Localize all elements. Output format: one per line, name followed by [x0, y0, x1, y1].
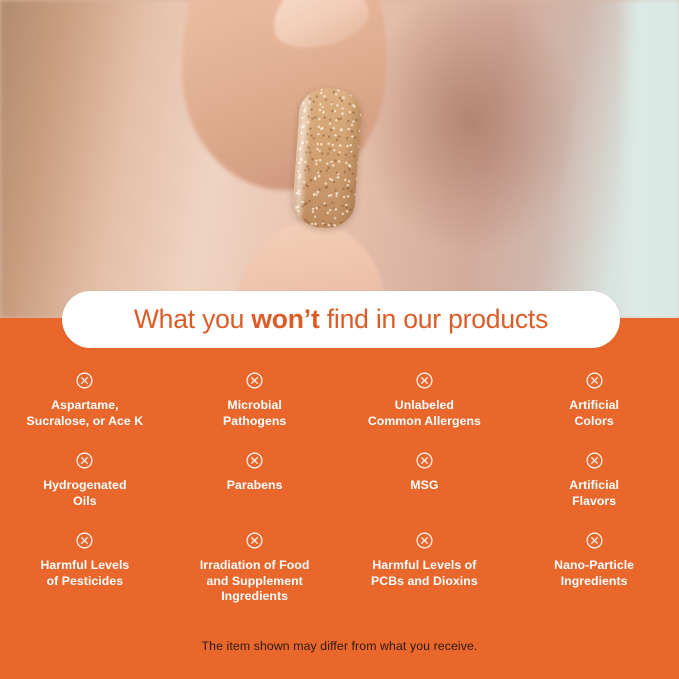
exclusion-label: Artificial Colors: [569, 398, 619, 429]
exclusion-label: Microbial Pathogens: [223, 398, 286, 429]
photo-forearm: [0, 0, 110, 318]
circle-x-icon: [416, 372, 433, 389]
product-photo: [0, 0, 679, 318]
headline-emphasis: won’t: [251, 304, 319, 334]
circle-x-icon: [586, 452, 603, 469]
circle-x-icon: [246, 372, 263, 389]
exclusion-item-unlabeled-allergens: Unlabeled Common Allergens: [340, 366, 510, 446]
exclusion-item-aspartame: Aspartame, Sucralose, or Ace K: [0, 366, 170, 446]
circle-x-icon: [246, 532, 263, 549]
exclusion-item-irradiation: Irradiation of Food and Supplement Ingre…: [170, 526, 340, 612]
exclusion-label: Unlabeled Common Allergens: [368, 398, 481, 429]
headline-text: What you won’t find in our products: [134, 304, 548, 335]
photo-background-mint-strip: [617, 0, 679, 318]
exclusion-label: Harmful Levels of PCBs and Dioxins: [371, 558, 478, 589]
headline-part-after: find in our products: [320, 304, 549, 334]
headline-banner: What you won’t find in our products: [62, 291, 620, 348]
exclusions-row-3: Harmful Levels of Pesticides Irradiation…: [0, 526, 679, 612]
exclusion-item-nano-particle: Nano-Particle Ingredients: [509, 526, 679, 612]
exclusion-item-hydrogenated-oils: Hydrogenated Oils: [0, 446, 170, 526]
supplement-tablet: [291, 86, 363, 230]
circle-x-icon: [246, 452, 263, 469]
exclusions-grid: Aspartame, Sucralose, or Ace K Microbial…: [0, 366, 679, 612]
exclusion-label: Irradiation of Food and Supplement Ingre…: [200, 558, 310, 605]
circle-x-icon: [416, 452, 433, 469]
exclusion-label: MSG: [410, 478, 438, 494]
exclusion-label: Artificial Flavors: [569, 478, 619, 509]
circle-x-icon: [586, 532, 603, 549]
exclusion-item-artificial-colors: Artificial Colors: [509, 366, 679, 446]
exclusion-item-microbial-pathogens: Microbial Pathogens: [170, 366, 340, 446]
exclusion-label: Harmful Levels of Pesticides: [40, 558, 129, 589]
exclusions-row-2: Hydrogenated Oils Parabens MSG Artificia…: [0, 446, 679, 526]
exclusion-item-msg: MSG: [340, 446, 510, 526]
exclusions-row-1: Aspartame, Sucralose, or Ace K Microbial…: [0, 366, 679, 446]
exclusion-label: Aspartame, Sucralose, or Ace K: [27, 398, 144, 429]
circle-x-icon: [76, 532, 93, 549]
exclusion-label: Parabens: [227, 478, 283, 494]
exclusion-item-pesticides: Harmful Levels of Pesticides: [0, 526, 170, 612]
exclusion-item-artificial-flavors: Artificial Flavors: [509, 446, 679, 526]
headline-part-before: What you: [134, 304, 252, 334]
exclusion-item-pcbs-dioxins: Harmful Levels of PCBs and Dioxins: [340, 526, 510, 612]
circle-x-icon: [586, 372, 603, 389]
product-infographic: What you won’t find in our products Aspa…: [0, 0, 679, 679]
circle-x-icon: [76, 372, 93, 389]
exclusion-label: Nano-Particle Ingredients: [554, 558, 634, 589]
disclaimer-text: The item shown may differ from what you …: [0, 639, 679, 653]
circle-x-icon: [416, 532, 433, 549]
circle-x-icon: [76, 452, 93, 469]
exclusion-item-parabens: Parabens: [170, 446, 340, 526]
exclusion-label: Hydrogenated Oils: [43, 478, 126, 509]
